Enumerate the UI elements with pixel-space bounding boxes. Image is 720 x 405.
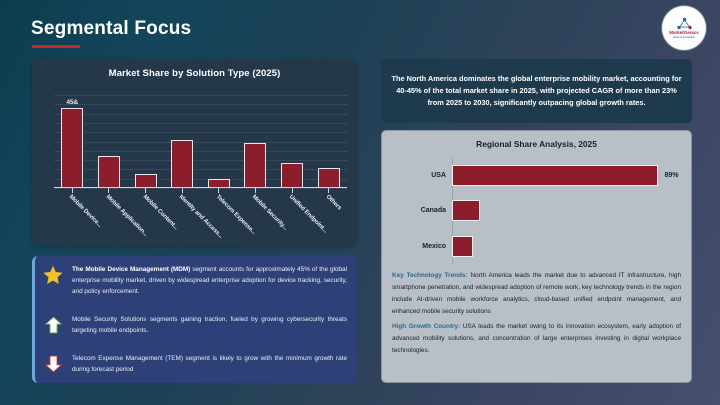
logo-tagline: Ideas to Innovation (673, 36, 695, 40)
regional-bar[interactable] (452, 200, 480, 221)
solution-type-chart-card: Market Share by Solution Type (2025) 45&… (32, 59, 357, 246)
insight-text: The Mobile Device Management (MDM) segme… (72, 264, 347, 297)
bar-slot (165, 95, 198, 188)
regional-share-card: Regional Share Analysis, 2025 USA89%Cana… (381, 130, 692, 383)
bar[interactable] (98, 156, 120, 188)
regional-note: Key Technology Trends: North America lea… (392, 270, 681, 317)
regional-value-label: 89% (664, 172, 678, 179)
x-label-slot: Telecom Expense... (202, 190, 235, 246)
x-label-slot: Identity and Access... (165, 190, 198, 246)
regional-bar[interactable] (452, 236, 473, 257)
arrow-up-icon (41, 314, 65, 335)
logo-name: MarketGenics (669, 31, 699, 36)
bar[interactable] (244, 143, 266, 188)
north-america-callout: The North America dominates the global e… (381, 59, 692, 123)
bar-slot (239, 95, 272, 188)
bar-value-label: 45& (66, 99, 78, 106)
x-label-slot: Unified Endpoint... (275, 190, 308, 246)
chart-plot-area: 45& (54, 95, 347, 188)
bar[interactable] (135, 174, 157, 188)
star-icon (41, 264, 65, 285)
insight-item: Mobile Security Solutions segments gaini… (41, 314, 347, 336)
insight-item: The Mobile Device Management (MDM) segme… (41, 264, 347, 297)
bar-slot: 45& (56, 95, 89, 188)
brand-logo: MarketGenics Ideas to Innovation (662, 6, 706, 50)
title-underline-rule (32, 45, 80, 48)
x-label-slot: Mobile Application... (92, 190, 125, 246)
bar[interactable] (318, 168, 340, 188)
insights-panel: The Mobile Device Management (MDM) segme… (32, 256, 357, 383)
x-axis-label: Others (324, 194, 342, 212)
x-label-slot: Mobile Device... (56, 190, 89, 246)
insight-text: Mobile Security Solutions segments gaini… (72, 314, 347, 336)
x-label-slot: Mobile Content... (129, 190, 162, 246)
callout-text: The North America dominates the global e… (391, 73, 682, 109)
regional-category-label: Canada (390, 207, 452, 214)
arrow-down-icon (41, 353, 65, 374)
page-title: Segmental Focus (31, 18, 191, 40)
bar[interactable] (61, 108, 83, 188)
bar-slot (312, 95, 345, 188)
regional-category-label: Mexico (390, 243, 452, 250)
regional-notes: Key Technology Trends: North America lea… (382, 264, 691, 357)
insight-item: Telecom Expense Management (TEM) segment… (41, 353, 347, 375)
bar-series: 45& (54, 95, 347, 188)
regional-bar-row: Mexico (390, 235, 683, 257)
bar-slot (202, 95, 235, 188)
regional-bar-row: Canada (390, 200, 683, 222)
chart-title: Market Share by Solution Type (2025) (32, 59, 357, 79)
regional-chart-title: Regional Share Analysis, 2025 (382, 131, 691, 149)
regional-bar-series: USA89%CanadaMexico (390, 158, 683, 264)
bar[interactable] (281, 163, 303, 188)
regional-plot-area: USA89%CanadaMexico (390, 158, 683, 264)
x-axis-labels: Mobile Device...Mobile Application...Mob… (54, 190, 347, 246)
x-label-slot: Others (312, 190, 345, 246)
regional-bar-row: USA89% (390, 165, 683, 187)
bar-slot (129, 95, 162, 188)
regional-category-label: USA (390, 172, 452, 179)
insight-text: Telecom Expense Management (TEM) segment… (72, 353, 347, 375)
regional-bar[interactable] (452, 165, 658, 186)
regional-note: High Growth Country: USA leads the marke… (392, 321, 681, 357)
bar-slot (275, 95, 308, 188)
network-nodes-icon (676, 17, 693, 30)
bar-slot (92, 95, 125, 188)
x-label-slot: Mobile Security... (239, 190, 272, 246)
bar[interactable] (171, 140, 193, 188)
